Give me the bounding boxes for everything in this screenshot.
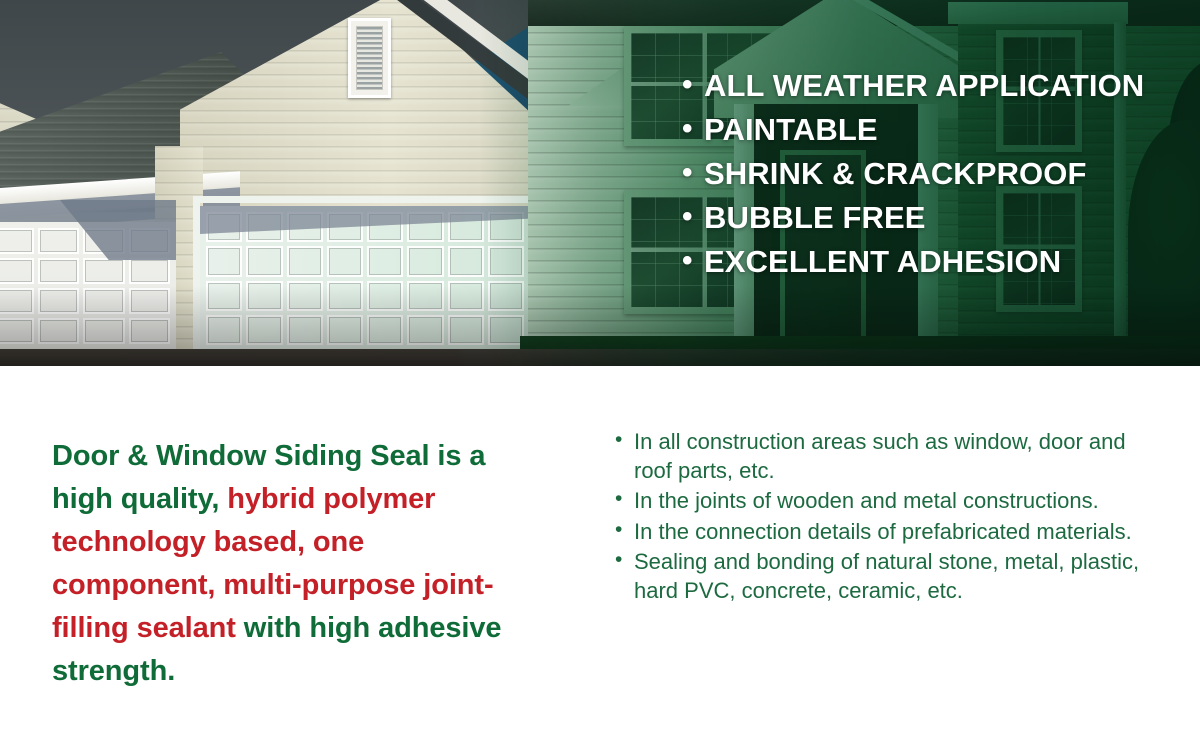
uses-list: In all construction areas such as window… — [613, 428, 1153, 607]
feature-item: PAINTABLE — [682, 108, 1192, 152]
uses-item: In the joints of wooden and metal constr… — [613, 487, 1153, 516]
feature-item: EXCELLENT ADHESION — [682, 240, 1192, 284]
product-sheet-page: ALL WEATHER APPLICATION PAINTABLE SHRINK… — [0, 0, 1200, 742]
feature-item: ALL WEATHER APPLICATION — [682, 64, 1192, 108]
uses-item: In the connection details of prefabricat… — [613, 518, 1153, 547]
feature-list: ALL WEATHER APPLICATION PAINTABLE SHRINK… — [682, 64, 1192, 284]
lower-content: Door & Window Siding Seal is a high qual… — [0, 366, 1200, 742]
hero-banner: ALL WEATHER APPLICATION PAINTABLE SHRINK… — [0, 0, 1200, 366]
uses-item: In all construction areas such as window… — [613, 428, 1153, 485]
uses-item: Sealing and bonding of natural stone, me… — [613, 548, 1153, 605]
feature-item: SHRINK & CRACKPROOF — [682, 152, 1192, 196]
product-description: Door & Window Siding Seal is a high qual… — [52, 435, 522, 693]
feature-item: BUBBLE FREE — [682, 196, 1192, 240]
